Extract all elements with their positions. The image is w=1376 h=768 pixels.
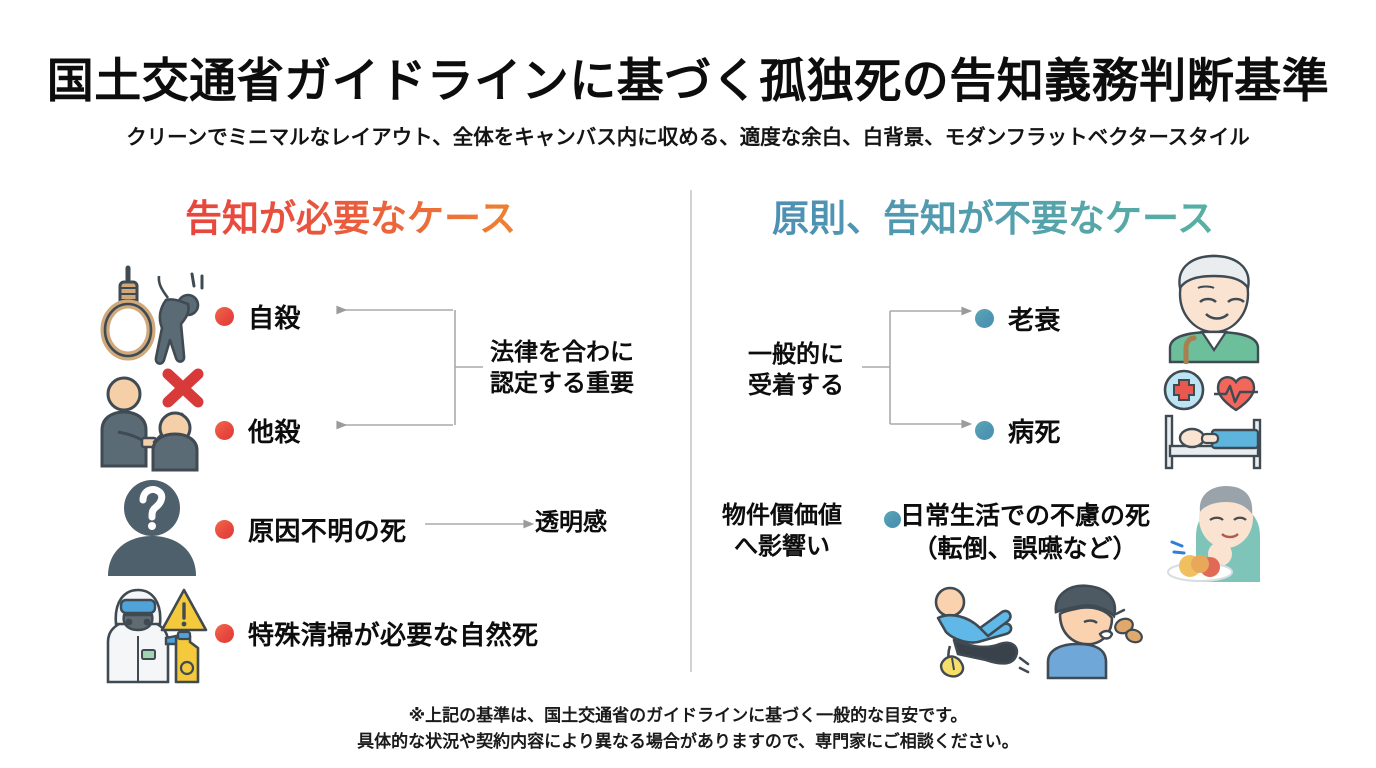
list-item[interactable]: 老衰 xyxy=(975,300,1061,337)
hospital-bed-icon xyxy=(1154,368,1272,477)
left-column-heading: 告知が必要なケース xyxy=(185,188,516,242)
legal-note: 法律を合わに 認定する重要 xyxy=(490,338,634,399)
list-item-label: 病死 xyxy=(1008,412,1061,449)
hazmat-cleaner-icon xyxy=(96,584,212,689)
list-item-label: 他殺 xyxy=(248,412,301,449)
list-item-label: 老衰 xyxy=(1008,300,1061,337)
bullet-dot xyxy=(215,624,234,643)
property-value-note: 物件價価値 へ影響い xyxy=(722,500,842,562)
slip-banana-peel-icon xyxy=(924,584,1034,685)
list-item[interactable]: 他殺 xyxy=(215,412,301,449)
bullet-dot xyxy=(215,421,234,440)
noose-falling-person-icon xyxy=(96,262,208,375)
page-subtitle: クリーンでミニマルなレイアウト、全体をキャンバス内に収める、適度な余白、白背景、… xyxy=(0,120,1376,150)
list-item[interactable]: 原因不明の死 xyxy=(215,511,406,548)
transparency-note: 透明感 xyxy=(535,508,607,539)
unknown-person-question-icon xyxy=(100,474,204,583)
general-source-note: 一般的に 受着する xyxy=(748,340,844,401)
list-item[interactable]: 病死 xyxy=(975,412,1061,449)
bullet-dot xyxy=(884,511,901,528)
bullet-dot xyxy=(215,307,234,326)
choking-man-icon xyxy=(1040,582,1146,685)
bullet-dot xyxy=(975,309,994,328)
elderly-man-cane-icon xyxy=(1156,252,1272,369)
footer-disclaimer: ※上記の基準は、国土交通省のガイドラインに基づく一般的な目安です。 具体的な状況… xyxy=(0,703,1376,756)
footer-line-2: 具体的な状況や契約内容により異なる場合がありますので、専門家にご相談ください。 xyxy=(0,729,1376,755)
bullet-dot xyxy=(975,421,994,440)
bullet-dot xyxy=(215,520,234,539)
list-item[interactable]: 自殺 xyxy=(215,298,301,335)
knife-attack-icon xyxy=(96,368,208,477)
list-item-label: 原因不明の死 xyxy=(248,511,406,548)
accident-death-label: 日常生活での不慮の死 （転倒、誤嚥など） xyxy=(900,500,1150,565)
right-column-heading: 原則、告知が不要なケース xyxy=(772,188,1214,242)
list-item[interactable]: 特殊清掃が必要な自然死 xyxy=(215,615,538,652)
list-item-label: 特殊清掃が必要な自然死 xyxy=(248,615,538,652)
list-item-label: 自殺 xyxy=(248,298,301,335)
page-title: 国土交通省ガイドラインに基づく孤独死の告知義務判断基準 xyxy=(0,42,1376,111)
choking-elderly-meal-icon xyxy=(1154,482,1272,591)
footer-line-1: ※上記の基準は、国土交通省のガイドラインに基づく一般的な目安です。 xyxy=(0,703,1376,729)
column-divider xyxy=(690,190,692,672)
